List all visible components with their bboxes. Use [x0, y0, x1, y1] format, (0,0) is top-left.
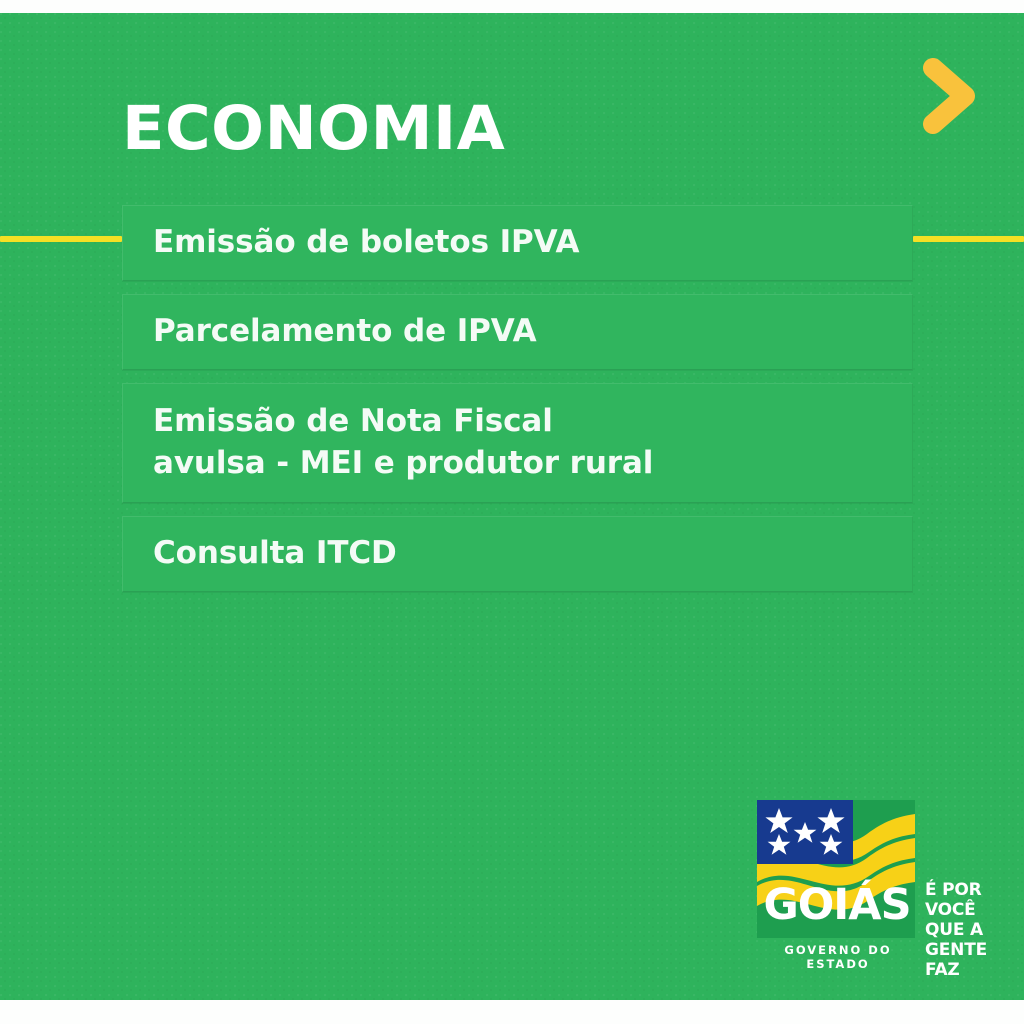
slide-canvas: ECONOMIA Emissão de boletos IPVA Parcela…: [0, 0, 1024, 1024]
goias-government-logo: GOIÁS GOVERNO DO ESTADO É POR VOCÊ QUE A…: [757, 800, 1007, 982]
economia-services-slide: ECONOMIA Emissão de boletos IPVA Parcela…: [0, 13, 1024, 1000]
list-item[interactable]: Parcelamento de IPVA: [122, 294, 913, 370]
list-item-label: Emissão de Nota Fiscal avulsa - MEI e pr…: [153, 401, 653, 485]
list-item[interactable]: Consulta ITCD: [122, 516, 913, 592]
list-item[interactable]: Emissão de Nota Fiscal avulsa - MEI e pr…: [122, 383, 913, 503]
page-title: ECONOMIA: [122, 98, 505, 159]
accent-rule-right: [913, 236, 1024, 242]
accent-rule-left: [0, 236, 122, 242]
list-item-label: Consulta ITCD: [153, 533, 397, 575]
chevron-right-icon[interactable]: [920, 57, 980, 135]
list-item[interactable]: Emissão de boletos IPVA: [122, 205, 913, 281]
logo-tagline: É POR VOCÊ QUE A GENTE FAZ: [925, 880, 987, 980]
list-item-label: Emissão de boletos IPVA: [153, 222, 579, 264]
logo-subtitle: GOVERNO DO ESTADO: [757, 943, 919, 971]
logo-wordmark: GOIÁS: [759, 884, 915, 927]
service-list: Emissão de boletos IPVA Parcelamento de …: [122, 205, 913, 605]
list-item-label: Parcelamento de IPVA: [153, 311, 537, 353]
